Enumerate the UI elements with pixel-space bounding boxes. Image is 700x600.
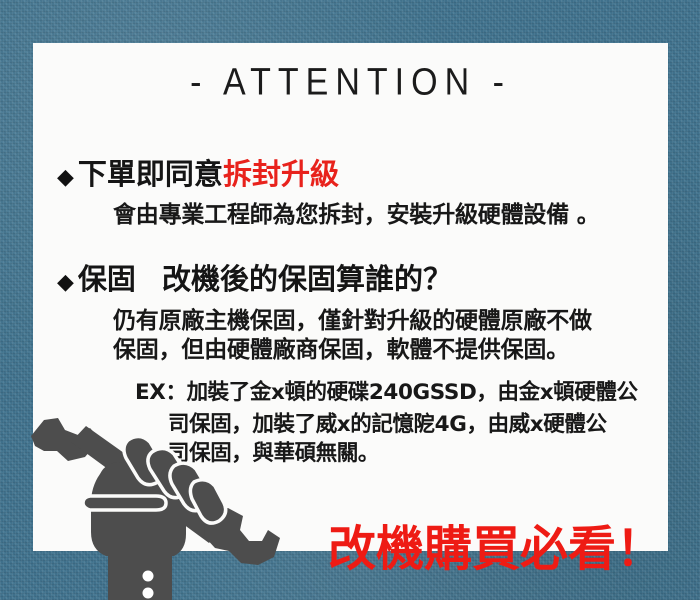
- unseal-heading-red: 拆封升級: [223, 151, 339, 193]
- warranty-heading-label: 保固: [78, 256, 136, 298]
- warranty-heading-question: 改機後的保固算誰的？: [162, 256, 452, 298]
- warranty-example-line-1: EX：加裝了金x頓的硬碟240GSSD，由金x頓硬體公: [135, 375, 638, 406]
- slogan-text: 改機購買必看！: [328, 509, 664, 579]
- unseal-body-line-1: 會由專業工程師為您拆封，安裝升級硬體設備 。: [113, 195, 600, 229]
- warranty-example-line-2: 司保固，加裝了威x的記憶阸4G，由威x硬體公: [168, 407, 607, 438]
- white-content-card: - ATTENTION - ◆ 下單即同意 拆封升級 會由專業工程師為您拆封，安…: [33, 43, 668, 551]
- page-title: - ATTENTION -: [33, 61, 668, 105]
- warranty-body-line-2: 保固，但由硬體廠商保固，軟體不提供保固。: [113, 330, 569, 364]
- poster-root: - ATTENTION - ◆ 下單即同意 拆封升級 會由專業工程師為您拆封，安…: [0, 0, 700, 600]
- unseal-heading-black: 下單即同意: [78, 151, 223, 193]
- warranty-example-line-3: 司保固，與華碩無關。: [168, 436, 379, 467]
- section-warranty-heading: ◆ 保固 改機後的保固算誰的？: [57, 256, 452, 298]
- diamond-bullet-icon: ◆: [57, 271, 74, 293]
- diamond-bullet-icon: ◆: [57, 166, 74, 188]
- section-unseal-heading: ◆ 下單即同意 拆封升級: [57, 151, 339, 193]
